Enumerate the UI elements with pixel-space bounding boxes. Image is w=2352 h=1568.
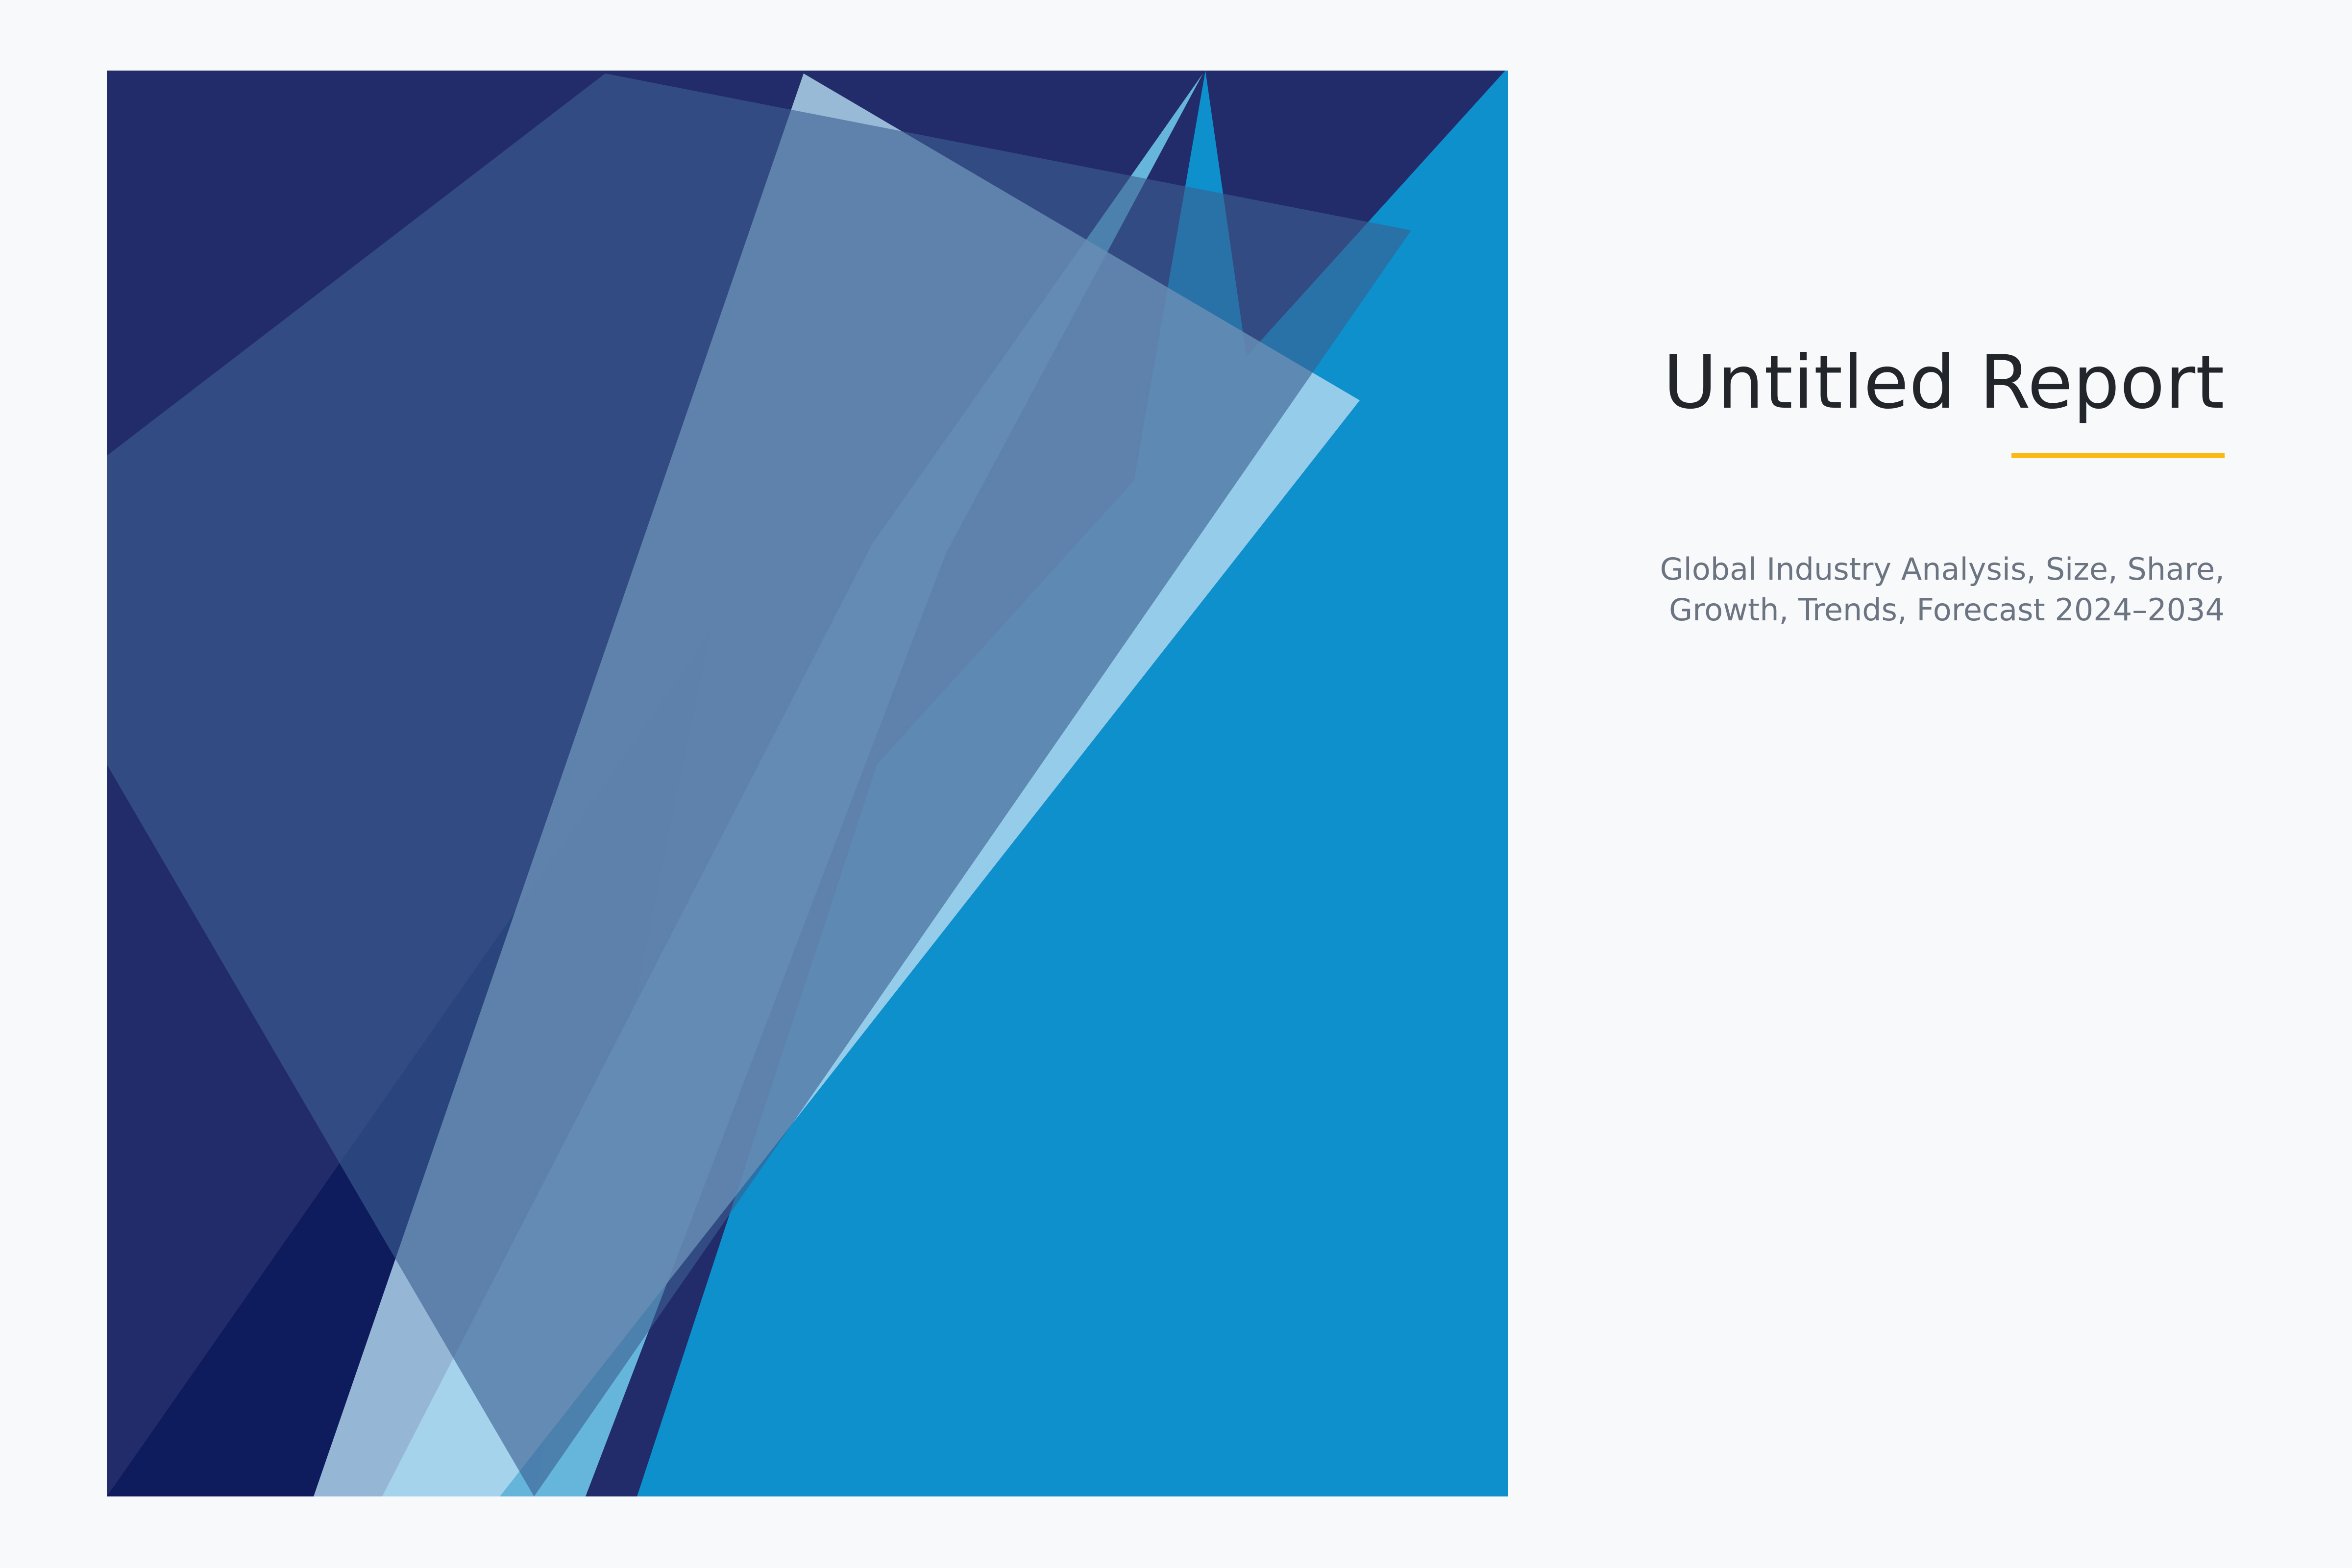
title-block: Untitled Report Global Industry Analysis… [1558, 343, 2225, 630]
title-accent-rule [2011, 453, 2225, 458]
title-rule-wrapper [1558, 453, 2225, 458]
cover-artwork [0, 0, 1568, 1568]
page-title: Untitled Report [1558, 343, 2225, 422]
report-cover-page: Untitled Report Global Industry Analysis… [0, 0, 2352, 1568]
page-subtitle: Global Industry Analysis, Size, Share, G… [1617, 549, 2225, 630]
